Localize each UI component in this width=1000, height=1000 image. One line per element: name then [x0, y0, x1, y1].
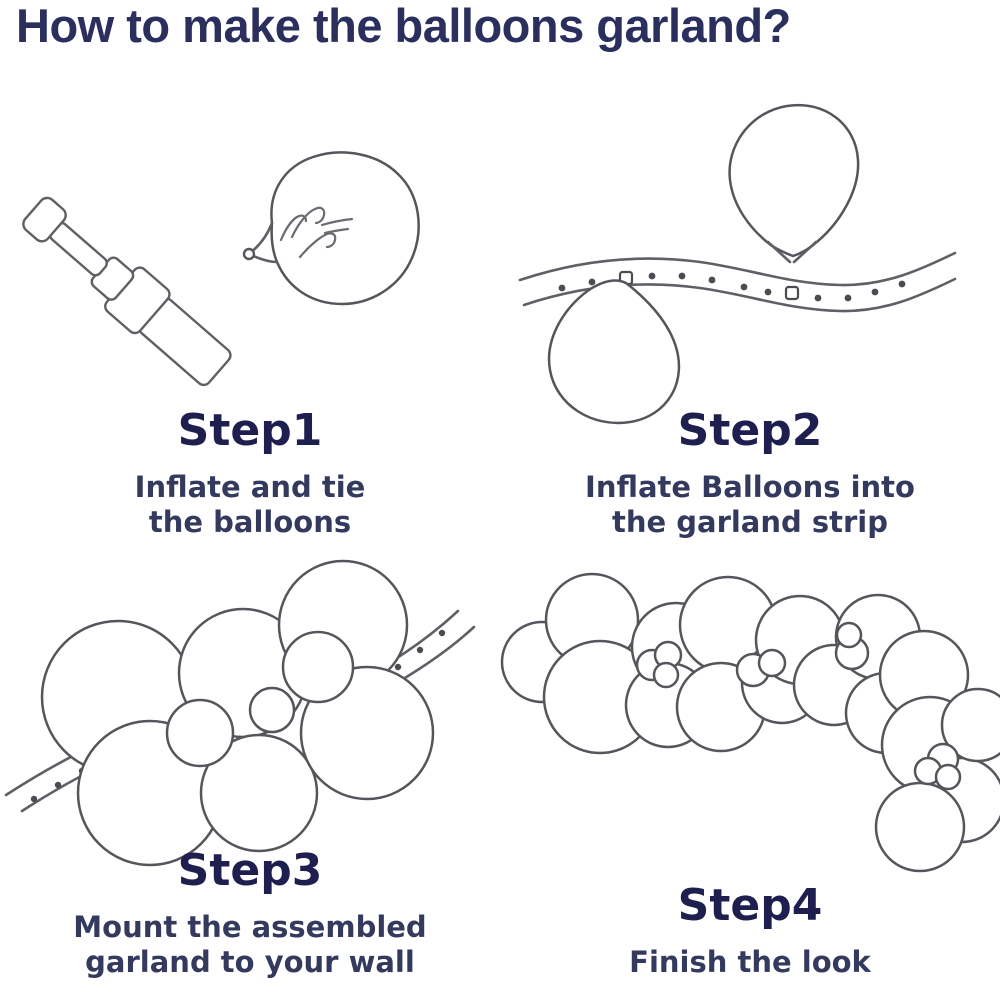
step-caption-1-line-2: the balloons	[0, 505, 500, 540]
page-title: How to make the balloons garland?	[16, 0, 1000, 58]
step-caption-2-line-2: the garland strip	[500, 505, 1000, 540]
step-caption-3: Mount the assembled garland to your wall	[0, 910, 500, 980]
step-heading-1: Step1	[0, 405, 500, 456]
illustration-completed-balloon-garland-arch	[500, 545, 1000, 875]
illustration-hand-pump-inflating-balloon	[0, 70, 500, 400]
instruction-infographic: How to make the balloons garland?	[0, 0, 1000, 1000]
step-caption-4: Finish the look	[500, 945, 1000, 980]
illustration-balloons-threaded-through-garland-strip	[500, 70, 1000, 410]
illustration-balloon-cluster-on-strip	[0, 545, 500, 845]
step-heading-3: Step3	[0, 845, 500, 896]
step-caption-2-line-1: Inflate Balloons into	[500, 470, 1000, 505]
step-caption-3-line-2: garland to your wall	[0, 945, 500, 980]
step-caption-1-line-1: Inflate and tie	[0, 470, 500, 505]
step-caption-3-line-1: Mount the assembled	[0, 910, 500, 945]
step-card-3: Step3 Mount the assembled garland to you…	[0, 545, 500, 1000]
step-caption-1: Inflate and tie the balloons	[0, 470, 500, 540]
step-card-4: Step4 Finish the look	[500, 545, 1000, 1000]
step-heading-2: Step2	[500, 405, 1000, 456]
step-card-2: Step2 Inflate Balloons into the garland …	[500, 70, 1000, 560]
step-caption-2: Inflate Balloons into the garland strip	[500, 470, 1000, 540]
step-card-1: Step1 Inflate and tie the balloons	[0, 70, 500, 560]
step-caption-4-line-1: Finish the look	[500, 945, 1000, 980]
step-heading-4: Step4	[500, 880, 1000, 931]
